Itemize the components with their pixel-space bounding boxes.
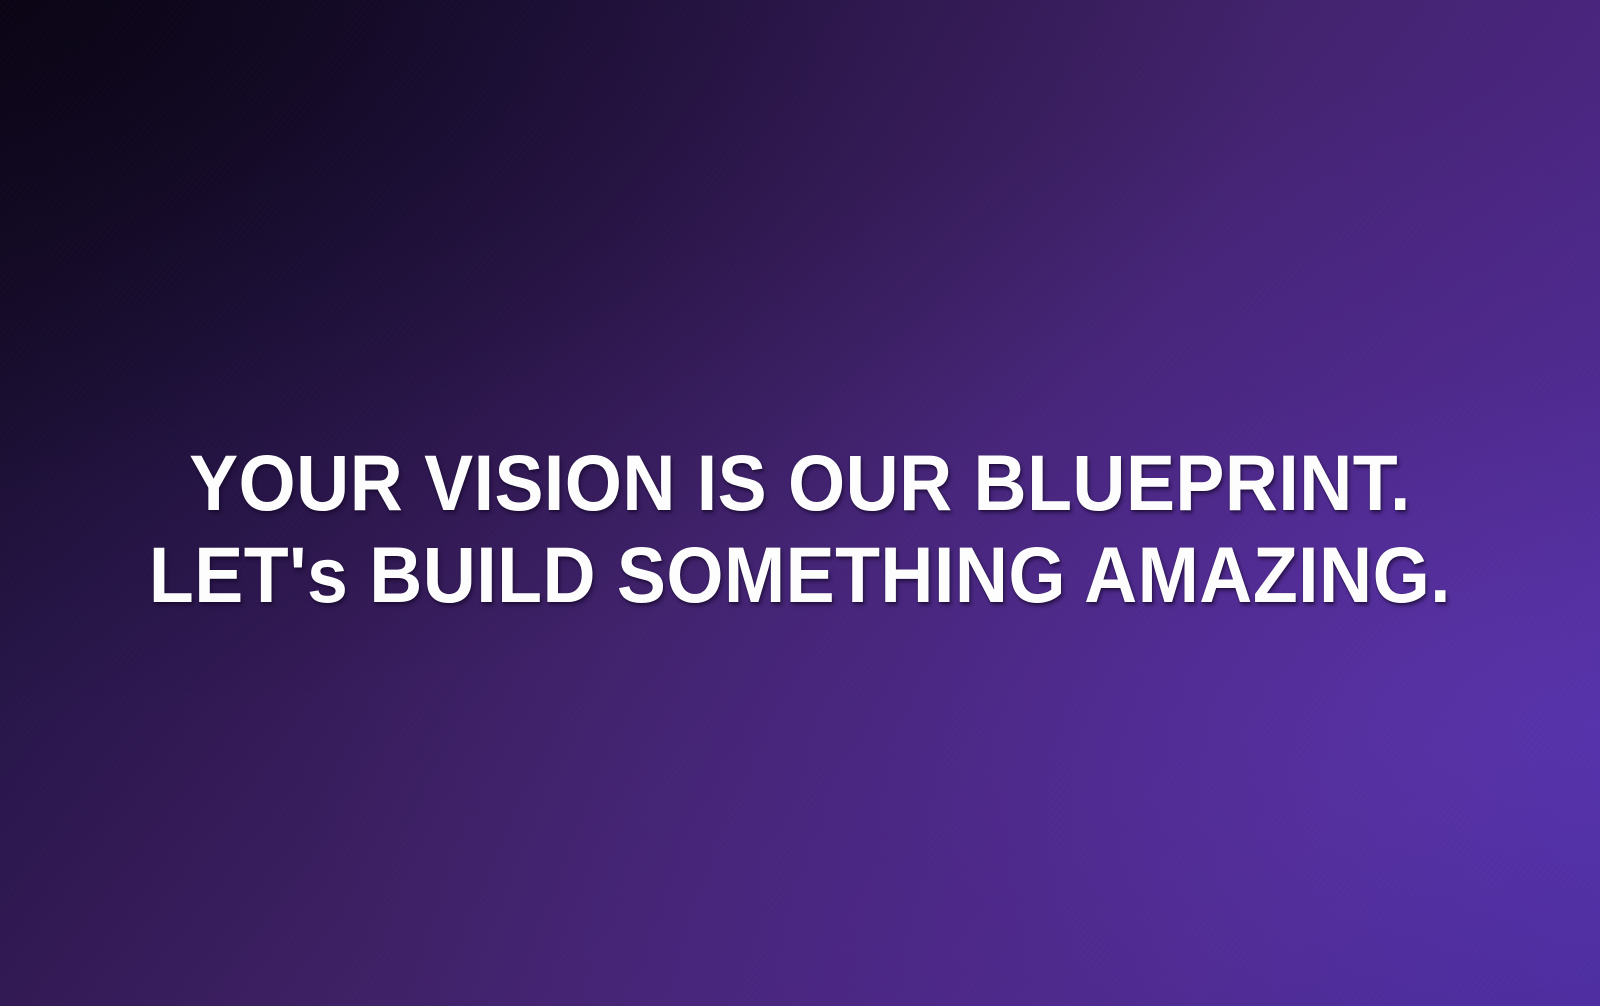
headline: YOUR VISION IS OUR BLUEPRINT. LET's BUIL… bbox=[0, 437, 1600, 621]
headline-line-2: LET's BUILD SOMETHING AMAZING. bbox=[56, 529, 1544, 621]
headline-line-1: YOUR VISION IS OUR BLUEPRINT. bbox=[56, 437, 1544, 529]
hero-banner: YOUR VISION IS OUR BLUEPRINT. LET's BUIL… bbox=[0, 0, 1600, 1006]
